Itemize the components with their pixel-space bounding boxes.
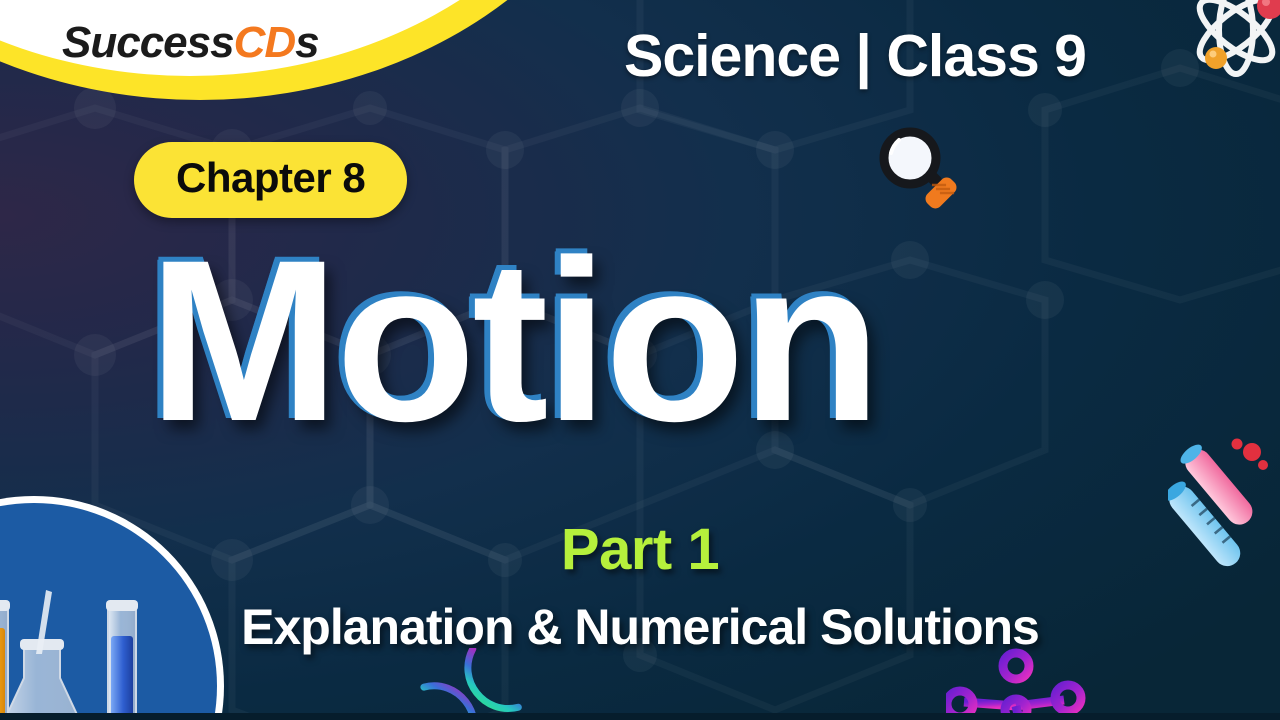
brand-logo-tail: s [295,18,318,67]
dna-helix-icon [404,648,554,720]
test-tubes-icon [1168,432,1280,582]
atom-icon [1174,0,1280,104]
course-title: Science | Class 9 [624,22,1086,90]
thumbnail-canvas: SuccessCDs Science | Class 9 Chapter 8 M… [0,0,1280,720]
brand-logo-main: Success [62,18,234,67]
molecule-icon [946,644,1086,720]
magnifying-glass-icon [874,124,974,224]
bottom-divider [0,713,1280,720]
brand-logo-accent: CD [234,18,296,67]
brand-logo[interactable]: SuccessCDs [62,18,319,68]
chapter-badge: Chapter 8 [134,142,407,218]
page-title: Motion [148,226,878,456]
lab-glassware-badge [0,494,226,720]
